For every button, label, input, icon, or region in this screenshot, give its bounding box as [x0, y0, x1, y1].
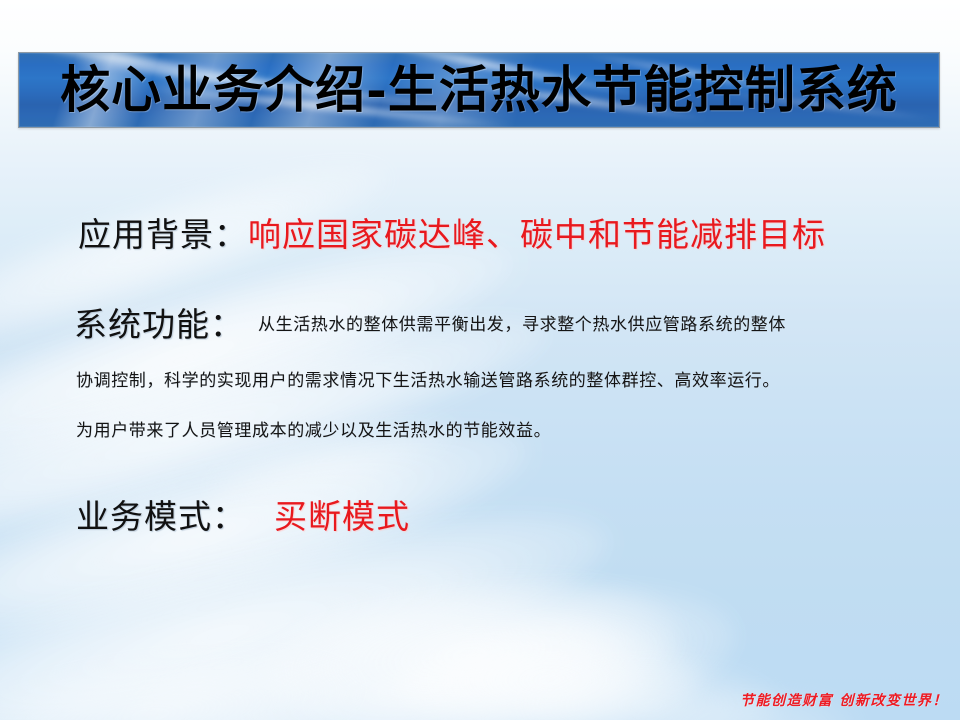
slide-canvas: 核心业务介绍-生活热水节能控制系统 应用背景：响应国家碳达峰、碳中和节能减排目标…: [0, 0, 960, 720]
system-function-line-1: 从生活热水的整体供需平衡出发，寻求整个热水供应管路系统的整体: [258, 315, 786, 335]
system-function-label: 系统功能：: [74, 305, 244, 344]
business-mode-label: 业务模式：: [76, 497, 246, 536]
system-function-line-3: 为用户带来了人员管理成本的减少以及生活热水的节能效益。: [76, 421, 551, 441]
business-mode-value: 买断模式: [274, 497, 410, 536]
section-application-background: 应用背景：响应国家碳达峰、碳中和节能减排目标: [78, 208, 826, 256]
slide-title: 核心业务介绍-生活热水节能控制系统: [60, 65, 898, 115]
section-business-mode: 业务模式：买断模式: [76, 490, 410, 538]
section-system-function: 系统功能：从生活热水的整体供需平衡出发，寻求整个热水供应管路系统的整体: [74, 298, 786, 346]
system-function-line-2: 协调控制，科学的实现用户的需求情况下生活热水输送管路系统的整体群控、高效率运行。: [76, 371, 780, 391]
footer-slogan: 节能创造财富 创新改变世界！: [740, 690, 948, 710]
title-banner: 核心业务介绍-生活热水节能控制系统: [18, 52, 940, 128]
application-background-value: 响应国家碳达峰、碳中和节能减排目标: [248, 215, 826, 254]
system-function-line-3-row: 为用户带来了人员管理成本的减少以及生活热水的节能效益。: [76, 416, 551, 441]
system-function-line-2-row: 协调控制，科学的实现用户的需求情况下生活热水输送管路系统的整体群控、高效率运行。: [76, 366, 780, 391]
application-background-label: 应用背景：: [78, 215, 248, 254]
